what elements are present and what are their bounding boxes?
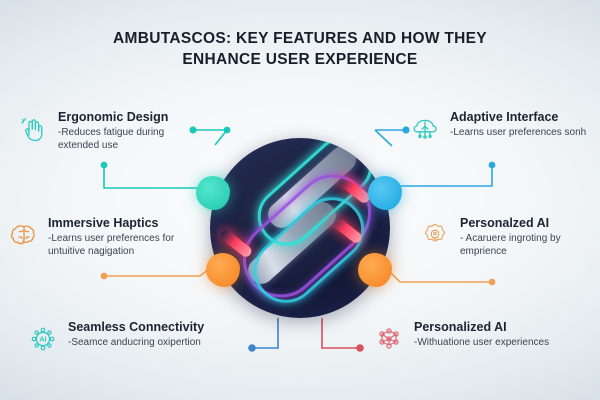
feature-text: Immersive Haptics -Learns user preferenc…	[40, 216, 200, 258]
feature-description: -Reduces fatigue during extended use	[58, 127, 204, 152]
feature-immersive-haptics: Immersive Haptics -Learns user preferenc…	[6, 216, 200, 258]
node-orange-right	[358, 253, 392, 287]
node-blue	[368, 176, 402, 210]
central-device-graphic	[210, 138, 390, 318]
feature-description: - Acaruere ingroting by emprience	[460, 233, 600, 258]
connector-right-middle	[400, 162, 495, 186]
infographic-canvas: AMBUTASCOS: KEY FEATURES AND HOW THEY EN…	[0, 0, 600, 400]
molecule-network-icon	[372, 322, 406, 356]
feature-description: -Learns user preferences for untuitive n…	[48, 233, 200, 258]
feature-ergonomic-design: Ergonomic Design -Reduces fatigue during…	[16, 110, 204, 152]
node-orange-left	[206, 253, 240, 287]
feature-heading: Immersive Haptics	[48, 216, 200, 231]
feature-personalized-ai: Personalized AI -Withuatione user experi…	[372, 320, 549, 356]
feature-text: Ergonomic Design -Reduces fatigue during…	[50, 110, 204, 152]
feature-description: -Withuatione user experiences	[414, 337, 549, 350]
feature-heading: Personalized AI	[414, 320, 549, 335]
title-line-2: ENHANCE USER EXPERIENCE	[0, 49, 600, 70]
feature-heading: Personalzed AI	[460, 216, 600, 231]
feature-personalzed-ai: Personalzed AI - Acaruere ingroting by e…	[418, 216, 600, 258]
connector-seamless	[248, 318, 278, 352]
connector-ergonomic	[101, 162, 200, 188]
connector-personalized	[322, 318, 364, 352]
title-line-1: AMBUTASCOS: KEY FEATURES AND HOW THEY	[0, 28, 600, 49]
connector-personalzed-ai	[388, 270, 495, 285]
feature-heading: Ergonomic Design	[58, 110, 204, 125]
feature-text: Personalzed AI - Acaruere ingroting by e…	[452, 216, 600, 258]
svg-text:AI: AI	[40, 336, 47, 343]
feature-text: Seamless Connectivity -Seamce anducring …	[60, 320, 204, 350]
feature-adaptive-interface: Adaptive Interface -Learns user preferen…	[408, 110, 586, 146]
ai-chip-badge-icon	[418, 218, 452, 252]
feature-text: Adaptive Interface -Learns user preferen…	[442, 110, 586, 140]
feature-heading: Adaptive Interface	[450, 110, 586, 125]
ai-network-icon: AI	[26, 322, 60, 356]
brain-circuit-icon	[408, 112, 442, 146]
node-teal	[196, 176, 230, 210]
feature-seamless-connectivity: AI Seamless Connectivity -Seamce anducri…	[26, 320, 204, 356]
feature-description: -Learns user preferences sonh	[450, 127, 586, 140]
feature-text: Personalized AI -Withuatione user experi…	[406, 320, 549, 350]
feature-description: -Seamce anducring oxipertion	[68, 337, 204, 350]
brain-icon	[6, 218, 40, 252]
feature-heading: Seamless Connectivity	[68, 320, 204, 335]
page-title: AMBUTASCOS: KEY FEATURES AND HOW THEY EN…	[0, 28, 600, 70]
connector-haptics	[101, 268, 210, 279]
hand-icon	[16, 112, 50, 146]
